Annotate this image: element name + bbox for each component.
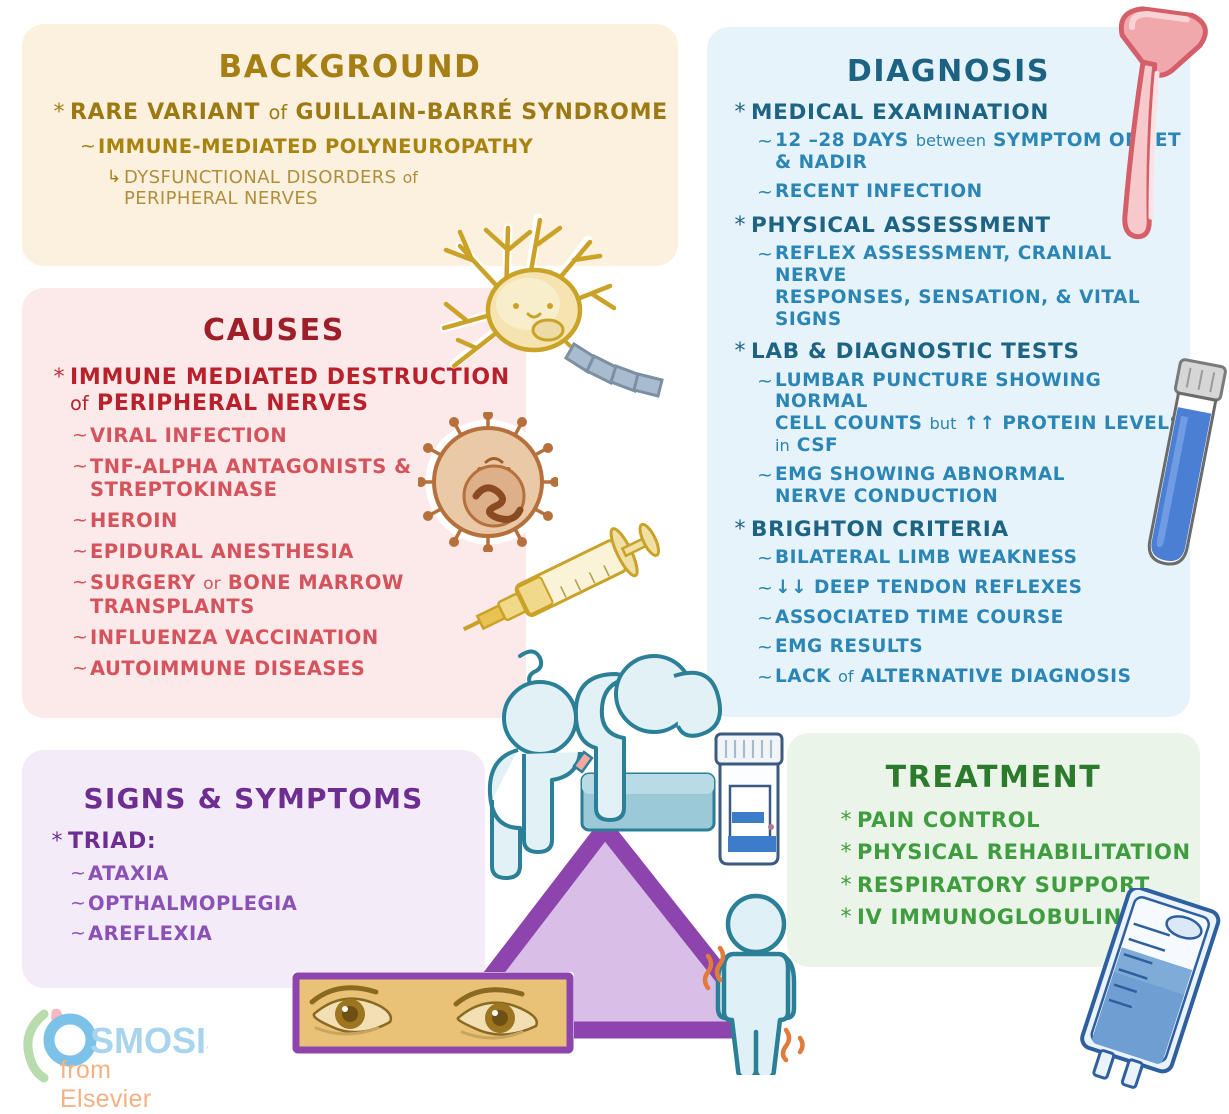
list-item: * PHYSICAL REHABILITATION	[835, 840, 1200, 865]
causes-panel-title: CAUSES	[22, 314, 526, 347]
tilde-bullet-icon: ~	[70, 509, 90, 532]
treatment-item-2-label: RESPIRATORY SUPPORT	[857, 873, 1150, 898]
signs-item-1-label: OPTHALMOPLEGIA	[88, 892, 297, 915]
list-item: ~ LACK of ALTERNATIVE DIAGNOSIS	[755, 666, 1190, 689]
list-item: ~ 12 –28 DAYS between SYMPTOM ONSET& NAD…	[755, 130, 1190, 174]
list-item: ~ ↓↓ DEEP TENDON REFLEXES	[755, 577, 1190, 600]
tilde-bullet-icon: ~	[755, 243, 775, 266]
diagnosis-section-heading: * PHYSICAL ASSESSMENT	[729, 213, 1190, 238]
treatment-item-0-label: PAIN CONTROL	[857, 808, 1040, 833]
diagnosis-0-item-0-label: 12 –28 DAYS between SYMPTOM ONSET& NADIR	[775, 130, 1181, 174]
diagnosis-section-heading: * LAB & DIAGNOSTIC TESTS	[729, 339, 1190, 364]
list-item: ↳ DYSFUNCTIONAL DISORDERS ofPERIPHERAL N…	[104, 167, 678, 209]
causes-item-4-label: SURGERY or BONE MARROWTRANSPLANTS	[90, 571, 404, 617]
treatment-item-list: * PAIN CONTROL * PHYSICAL REHABILITATION…	[835, 808, 1200, 930]
list-item: ~ REFLEX ASSESSMENT, CRANIAL NERVERESPON…	[755, 243, 1190, 330]
osmosis-logo: SMOSIS from Elsevier	[8, 1000, 208, 1092]
asterisk-bullet-icon: *	[835, 873, 857, 898]
diagnosis-1-item-0-label: REFLEX ASSESSMENT, CRANIAL NERVERESPONSE…	[775, 243, 1190, 330]
treatment-panel-title: TREATMENT	[787, 761, 1200, 794]
diagnosis-panel-title: DIAGNOSIS	[707, 55, 1190, 88]
tilde-bullet-icon: ~	[755, 464, 775, 487]
tilde-bullet-icon: ~	[755, 547, 775, 570]
treatment-item-1-label: PHYSICAL REHABILITATION	[857, 840, 1191, 865]
list-item: ~ AREFLEXIA	[68, 922, 485, 945]
diagnosis-section-0-label: MEDICAL EXAMINATION	[751, 100, 1049, 125]
triad-triangle-illustration	[440, 820, 780, 1050]
list-item: ~ LUMBAR PUNCTURE SHOWING NORMALCELL COU…	[755, 370, 1190, 457]
corner-arrow-bullet-icon: ↳	[104, 167, 124, 187]
diagnosis-section-heading: * BRIGHTON CRITERIA	[729, 517, 1190, 542]
signs-item-0-label: ATAXIA	[88, 862, 169, 885]
list-item: * RARE VARIANT of GUILLAIN-BARRÉ SYNDROM…	[48, 100, 678, 126]
tilde-bullet-icon: ~	[70, 424, 90, 447]
background-item-1-label: IMMUNE-MEDIATED POLYNEUROPATHY	[98, 135, 533, 158]
list-item: ~ ASSOCIATED TIME COURSE	[755, 607, 1190, 630]
causes-item-1-label: TNF-ALPHA ANTAGONISTS &STREPTOKINASE	[90, 455, 412, 501]
asterisk-bullet-icon: *	[729, 339, 751, 364]
causes-item-6-label: AUTOIMMUNE DISEASES	[90, 657, 365, 680]
list-item: ~ SURGERY or BONE MARROWTRANSPLANTS	[70, 571, 526, 617]
diagnosis-2-item-1-label: EMG SHOWING ABNORMALNERVE CONDUCTION	[775, 464, 1065, 508]
tilde-bullet-icon: ~	[755, 636, 775, 659]
asterisk-bullet-icon: *	[48, 365, 70, 390]
background-item-2-label: DYSFUNCTIONAL DISORDERS ofPERIPHERAL NER…	[124, 167, 418, 209]
list-item: ~ EMG SHOWING ABNORMALNERVE CONDUCTION	[755, 464, 1190, 508]
signs-item-list: * TRIAD: ~ ATAXIA ~ OPTHALMOPLEGIA ~ ARE…	[68, 829, 485, 945]
asterisk-bullet-icon: *	[48, 100, 70, 125]
causes-heading-label: IMMUNE MEDIATED DESTRUCTIONof PERIPHERAL…	[70, 365, 510, 416]
tilde-bullet-icon: ~	[755, 130, 775, 153]
tilde-bullet-icon: ~	[70, 626, 90, 649]
tilde-bullet-icon: ~	[68, 892, 88, 915]
diagnosis-3-item-3-label: EMG RESULTS	[775, 636, 923, 658]
list-item: ~ ATAXIA	[68, 862, 485, 885]
diagnosis-section-3-label: BRIGHTON CRITERIA	[751, 517, 1009, 542]
list-item: ~ BILATERAL LIMB WEAKNESS	[755, 547, 1190, 570]
list-item: ~ VIRAL INFECTION	[70, 424, 526, 447]
background-panel: BACKGROUND * RARE VARIANT of GUILLAIN-BA…	[22, 24, 678, 266]
tilde-bullet-icon: ~	[70, 540, 90, 563]
tilde-bullet-icon: ~	[78, 135, 98, 158]
causes-item-5-label: INFLUENZA VACCINATION	[90, 626, 379, 649]
pill-bottle-illustration	[700, 728, 800, 870]
tilde-bullet-icon: ~	[755, 181, 775, 204]
causes-item-list: * IMMUNE MEDIATED DESTRUCTIONof PERIPHER…	[70, 365, 526, 680]
tilde-bullet-icon: ~	[70, 455, 90, 478]
diagnosis-3-item-1-label: ↓↓ DEEP TENDON REFLEXES	[775, 577, 1083, 599]
tilde-bullet-icon: ~	[70, 657, 90, 680]
asterisk-bullet-icon: *	[729, 100, 751, 125]
causes-item-0-label: VIRAL INFECTION	[90, 424, 287, 447]
tilde-bullet-icon: ~	[755, 666, 775, 689]
signs-heading-label: TRIAD:	[68, 829, 156, 855]
diagnosis-3-item-2-label: ASSOCIATED TIME COURSE	[775, 607, 1064, 629]
asterisk-bullet-icon: *	[729, 213, 751, 238]
causes-item-2-label: HEROIN	[90, 509, 178, 532]
diagnosis-section-2-label: LAB & DIAGNOSTIC TESTS	[751, 339, 1080, 364]
list-item: ~ RECENT INFECTION	[755, 181, 1190, 204]
diagnosis-section-1-label: PHYSICAL ASSESSMENT	[751, 213, 1051, 238]
list-item: ~ AUTOIMMUNE DISEASES	[70, 657, 526, 680]
signs-and-symptoms-panel: SIGNS & SYMPTOMS * TRIAD: ~ ATAXIA ~ OPT…	[22, 750, 485, 988]
list-item: ~ EMG RESULTS	[755, 636, 1190, 659]
svg-text:SMOSIS: SMOSIS	[90, 1020, 208, 1061]
asterisk-bullet-icon: *	[835, 905, 857, 930]
list-item: ~ INFLUENZA VACCINATION	[70, 626, 526, 649]
list-item: * IV IMMUNOGLOBULINS	[835, 905, 1200, 930]
list-item: ~ IMMUNE-MEDIATED POLYNEUROPATHY	[78, 135, 678, 158]
diagnosis-panel: DIAGNOSIS * MEDICAL EXAMINATION ~ 12 –28…	[707, 27, 1190, 717]
tilde-bullet-icon: ~	[68, 922, 88, 945]
causes-item-3-label: EPIDURAL ANESTHESIA	[90, 540, 354, 563]
treatment-item-3-label: IV IMMUNOGLOBULINS	[857, 905, 1138, 930]
tilde-bullet-icon: ~	[755, 370, 775, 393]
list-item: * PAIN CONTROL	[835, 808, 1200, 833]
diagnosis-section-heading: * MEDICAL EXAMINATION	[729, 100, 1190, 125]
causes-heading: * IMMUNE MEDIATED DESTRUCTIONof PERIPHER…	[48, 365, 526, 416]
diagnosis-3-item-4-label: LACK of ALTERNATIVE DIAGNOSIS	[775, 666, 1131, 688]
osmosis-logo-mark: SMOSIS	[8, 1000, 208, 1092]
tilde-bullet-icon: ~	[68, 862, 88, 885]
tilde-bullet-icon: ~	[755, 577, 775, 600]
list-item: ~ HEROIN	[70, 509, 526, 532]
background-panel-title: BACKGROUND	[22, 50, 678, 84]
osmosis-logo-tagline: from Elsevier	[60, 1056, 208, 1114]
signs-heading: * TRIAD:	[46, 829, 485, 855]
signs-panel-title: SIGNS & SYMPTOMS	[22, 784, 485, 815]
treatment-panel: TREATMENT * PAIN CONTROL * PHYSICAL REHA…	[787, 733, 1200, 967]
list-item: * RESPIRATORY SUPPORT	[835, 873, 1200, 898]
asterisk-bullet-icon: *	[835, 808, 857, 833]
diagnosis-2-item-0-label: LUMBAR PUNCTURE SHOWING NORMALCELL COUNT…	[775, 370, 1190, 457]
list-item: ~ EPIDURAL ANESTHESIA	[70, 540, 526, 563]
asterisk-bullet-icon: *	[729, 517, 751, 542]
background-item-0-label: RARE VARIANT of GUILLAIN-BARRÉ SYNDROME	[70, 100, 668, 126]
causes-panel: CAUSES * IMMUNE MEDIATED DESTRUCTIONof P…	[22, 288, 526, 718]
list-item: ~ OPTHALMOPLEGIA	[68, 892, 485, 915]
background-item-list: * RARE VARIANT of GUILLAIN-BARRÉ SYNDROM…	[48, 100, 678, 209]
asterisk-bullet-icon: *	[835, 840, 857, 865]
diagnosis-item-list: * MEDICAL EXAMINATION ~ 12 –28 DAYS betw…	[729, 100, 1190, 689]
list-item: ~ TNF-ALPHA ANTAGONISTS &STREPTOKINASE	[70, 455, 526, 501]
tilde-bullet-icon: ~	[755, 607, 775, 630]
asterisk-bullet-icon: *	[46, 829, 68, 854]
diagnosis-3-item-0-label: BILATERAL LIMB WEAKNESS	[775, 547, 1077, 569]
tilde-bullet-icon: ~	[70, 571, 90, 594]
diagnosis-0-item-1-label: RECENT INFECTION	[775, 181, 983, 203]
signs-item-2-label: AREFLEXIA	[88, 922, 212, 945]
